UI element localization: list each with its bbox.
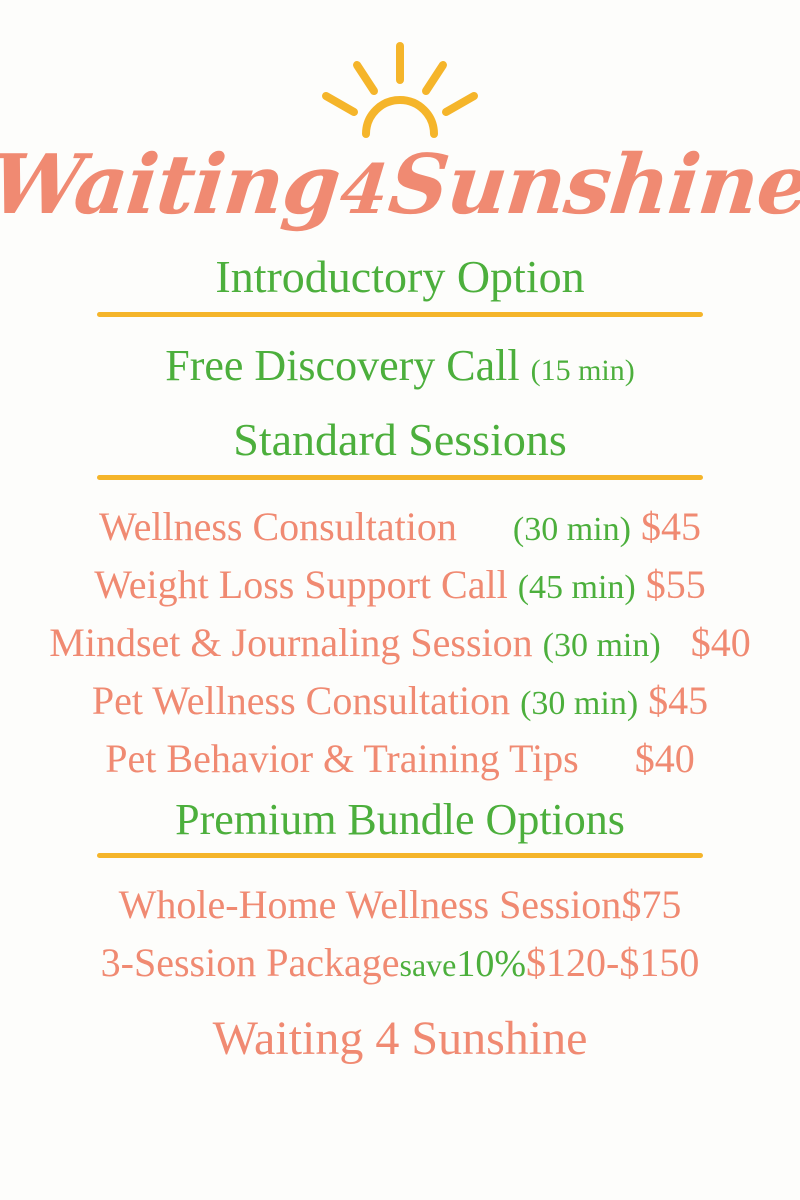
bundle-save-value: 10%: [456, 943, 526, 985]
list-item: Wellness Consultation(30 min)$45: [99, 506, 701, 548]
sun-rising-icon: [300, 38, 500, 138]
service-name: Weight Loss Support Call: [94, 562, 507, 607]
service-duration: (30 min): [520, 685, 638, 722]
service-name: Pet Behavior & Training Tips: [105, 736, 578, 781]
service-name: Wellness Consultation: [99, 504, 457, 549]
section-divider-premium: [97, 853, 703, 858]
brand-logo-word2: Sunshine: [385, 137, 800, 233]
list-item: Pet Behavior & Training Tips$40: [105, 738, 694, 780]
brand-logo-word1: Waiting: [0, 137, 344, 233]
bundle-price: $75: [621, 882, 681, 927]
service-duration: (15 min): [531, 354, 635, 387]
service-duration: (45 min): [518, 569, 636, 606]
service-duration: (30 min): [513, 511, 631, 548]
service-price: $40: [635, 736, 695, 781]
footer-brand: Waiting 4 Sunshine: [213, 1011, 588, 1066]
section-divider-standard: [97, 475, 703, 480]
service-price: $55: [646, 562, 706, 607]
service-name: Mindset & Journaling Session: [49, 620, 532, 665]
bundle-name: 3-Session Package: [101, 940, 400, 985]
section-heading-standard: Standard Sessions: [233, 415, 567, 465]
list-item: Whole-Home Wellness Session$75: [119, 884, 682, 926]
bundle-price: $120-$150: [526, 940, 699, 985]
list-item: Mindset & Journaling Session(30 min)$40: [49, 622, 750, 664]
service-price: $45: [641, 504, 701, 549]
list-item: Weight Loss Support Call(45 min)$55: [94, 564, 705, 606]
pricing-poster: Waiting4Sunshine Introductory Option Fre…: [0, 0, 800, 1200]
section-divider-introductory: [97, 312, 703, 317]
bundle-name: Whole-Home Wellness Session: [119, 882, 622, 927]
service-price: $45: [648, 678, 708, 723]
bundle-save-label: save: [399, 947, 456, 983]
service-name: Pet Wellness Consultation: [92, 678, 510, 723]
service-price: $40: [691, 620, 751, 665]
section-heading-introductory: Introductory Option: [215, 252, 584, 302]
brand-logo-number: 4: [335, 150, 394, 230]
list-item: Pet Wellness Consultation(30 min)$45: [92, 680, 708, 722]
service-duration: (30 min): [543, 627, 661, 664]
service-name: Free Discovery Call: [165, 341, 519, 390]
list-item: Free Discovery Call (15 min): [165, 343, 635, 389]
section-heading-premium: Premium Bundle Options: [175, 796, 625, 844]
list-item: 3-Session Packagesave10%$120-$150: [101, 942, 700, 985]
brand-logo: Waiting4Sunshine: [0, 144, 800, 226]
